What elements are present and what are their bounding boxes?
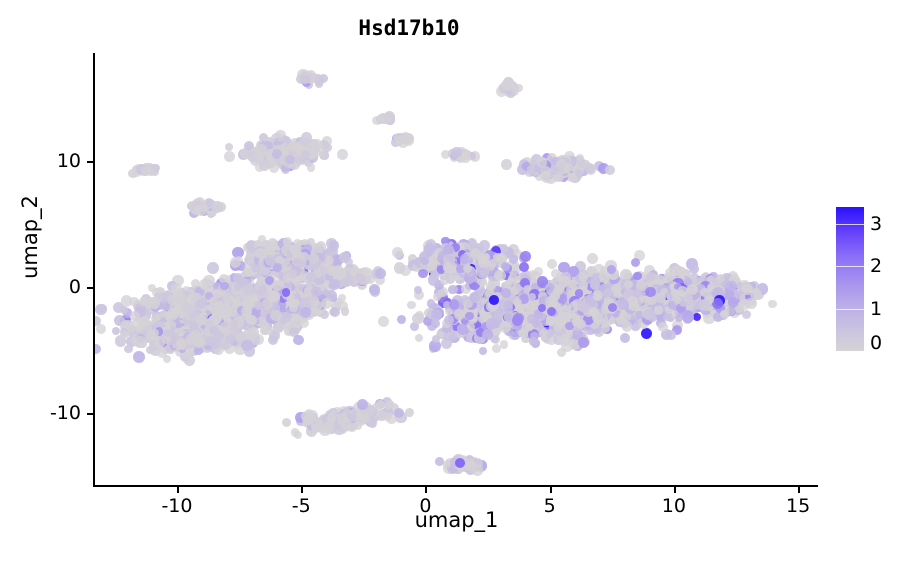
y-axis-label: umap_2 [18, 147, 42, 327]
scatter-point [449, 331, 458, 340]
scatter-point [620, 333, 630, 343]
scatter-point [501, 159, 512, 170]
x-axis-spine [93, 485, 818, 487]
scatter-point [321, 298, 332, 309]
scatter-point [196, 299, 205, 308]
y-tick-label: -10 [9, 402, 81, 424]
colorbar-gradient [836, 207, 864, 351]
scatter-point [566, 286, 574, 294]
scatter-point [431, 309, 443, 321]
scatter-point [230, 257, 241, 268]
x-tick [798, 487, 800, 493]
scatter-point [527, 165, 535, 173]
scatter-point [455, 458, 465, 468]
scatter-point [465, 312, 473, 320]
scatter-point [578, 337, 589, 348]
scatter-point [220, 303, 231, 314]
scatter-point [508, 274, 518, 284]
scatter-point [478, 257, 489, 268]
scatter-point [124, 345, 132, 353]
scatter-point [405, 408, 414, 417]
scatter-point [482, 329, 493, 340]
scatter-point [395, 137, 404, 146]
scatter-point [689, 264, 699, 274]
scatter-point [564, 163, 574, 173]
scatter-point [415, 334, 423, 342]
scatter-point [699, 299, 711, 311]
scatter-point [720, 310, 729, 319]
scatter-point [494, 270, 505, 281]
scatter-point [478, 315, 486, 323]
scatter-point [185, 304, 194, 313]
scatter-point [464, 458, 475, 469]
umap-feature-plot-figure: Hsd17b10 -10-5051015100-10 umap_1 umap_2… [0, 0, 911, 562]
scatter-point [682, 311, 694, 323]
scatter-point [593, 293, 601, 301]
scatter-point [288, 269, 297, 278]
scatter-point [501, 81, 509, 89]
scatter-point [519, 262, 529, 272]
scatter-point [337, 149, 348, 160]
scatter-point-layer [95, 53, 818, 485]
colorbar-tick-label: 2 [870, 257, 882, 276]
scatter-point [394, 262, 406, 274]
scatter-point [418, 269, 428, 279]
scatter-point [599, 271, 610, 282]
scatter-point [112, 327, 120, 335]
scatter-point [726, 281, 737, 292]
scatter-point [334, 269, 345, 280]
scatter-point [443, 262, 453, 272]
scatter-point [641, 328, 652, 339]
x-tick [301, 487, 303, 493]
scatter-point [470, 293, 480, 303]
scatter-point [553, 322, 563, 332]
scatter-point [540, 166, 551, 177]
scatter-point [265, 246, 275, 256]
scatter-point [728, 297, 739, 308]
y-tick [87, 287, 93, 289]
scatter-point [130, 311, 140, 321]
scatter-point [308, 253, 319, 264]
scatter-point [520, 251, 530, 261]
scatter-point [265, 255, 276, 266]
scatter-point [499, 321, 511, 333]
x-tick [550, 487, 552, 493]
scatter-point [319, 74, 328, 83]
scatter-point [578, 159, 586, 167]
scatter-point [382, 412, 392, 422]
scatter-point [633, 289, 642, 298]
scatter-point [618, 299, 629, 310]
scatter-point [273, 322, 284, 333]
scatter-point [741, 284, 752, 295]
scatter-point [560, 305, 571, 316]
scatter-point [376, 400, 384, 408]
scatter-point [665, 268, 675, 278]
scatter-point [397, 315, 406, 324]
scatter-point [407, 301, 415, 309]
scatter-point [489, 295, 499, 305]
scatter-point [654, 305, 663, 314]
scatter-point [443, 244, 454, 255]
scatter-point [329, 279, 340, 290]
scatter-point [255, 248, 266, 259]
scatter-point [307, 163, 315, 171]
scatter-point [355, 273, 365, 283]
colorbar-tick-label: 1 [870, 300, 882, 319]
scatter-point [225, 143, 233, 151]
scatter-point [323, 143, 332, 152]
scatter-point [282, 418, 292, 428]
scatter-point [207, 262, 219, 274]
scatter-point [220, 282, 228, 290]
scatter-point [330, 307, 340, 317]
x-tick [177, 487, 179, 493]
x-tick [425, 487, 427, 493]
scatter-point [589, 307, 599, 317]
scatter-point [300, 307, 311, 318]
page-title: Hsd17b10 [0, 16, 818, 40]
scatter-point [95, 344, 101, 354]
scatter-point [768, 300, 777, 309]
scatter-point [500, 340, 508, 348]
scatter-point [141, 166, 151, 176]
scatter-point [457, 324, 468, 335]
scatter-point [693, 313, 701, 321]
scatter-point [579, 273, 588, 282]
scatter-point [299, 318, 309, 328]
scatter-point [209, 326, 218, 335]
scatter-point [303, 414, 314, 425]
scatter-point [139, 297, 147, 305]
scatter-point [293, 335, 303, 345]
scatter-point [493, 310, 503, 320]
scatter-point [631, 258, 640, 267]
scatter-point [134, 336, 145, 347]
scatter-point [310, 141, 318, 149]
scatter-point [435, 457, 444, 466]
scatter-point [605, 165, 616, 176]
colorbar-tick [836, 266, 864, 267]
scatter-point [656, 295, 664, 303]
scatter-point [745, 298, 757, 310]
scatter-point [268, 335, 278, 345]
scatter-point [310, 300, 322, 312]
colorbar: 3210 [836, 207, 911, 352]
plot-axes: -10-5051015100-10 [95, 53, 818, 485]
scatter-point [318, 424, 327, 433]
scatter-point [633, 272, 641, 280]
scatter-point [366, 275, 375, 284]
y-tick [87, 413, 93, 415]
scatter-point [513, 313, 523, 323]
scatter-point [412, 313, 424, 325]
scatter-point [341, 307, 350, 316]
scatter-point [501, 288, 511, 298]
scatter-point [299, 252, 309, 262]
scatter-point [361, 413, 370, 422]
colorbar-tick [836, 309, 864, 310]
scatter-point [295, 143, 304, 152]
scatter-point [149, 297, 160, 308]
scatter-point [428, 256, 438, 266]
scatter-point [668, 301, 676, 309]
scatter-point [479, 347, 487, 355]
scatter-point [133, 351, 145, 363]
scatter-point [327, 414, 336, 423]
colorbar-tick-label: 3 [870, 215, 882, 234]
scatter-point [529, 337, 537, 345]
x-tick [674, 487, 676, 493]
colorbar-tick-label: 0 [870, 334, 882, 353]
scatter-point [378, 316, 389, 327]
scatter-point [282, 288, 290, 296]
scatter-point [501, 262, 510, 271]
scatter-point [339, 252, 350, 263]
scatter-point [273, 263, 282, 272]
scatter-point [557, 348, 566, 357]
scatter-point [646, 272, 655, 281]
scatter-point [241, 340, 252, 351]
scatter-point [211, 201, 223, 213]
scatter-point [270, 310, 281, 321]
scatter-point [300, 75, 309, 84]
scatter-point [311, 286, 321, 296]
scatter-point [627, 296, 638, 307]
scatter-point [460, 254, 470, 264]
scatter-point [716, 274, 725, 283]
scatter-point [294, 431, 303, 440]
scatter-point [454, 309, 465, 320]
scatter-point [237, 277, 247, 287]
scatter-point [515, 84, 523, 92]
scatter-point [369, 284, 380, 295]
scatter-point [337, 414, 347, 424]
scatter-point [224, 151, 235, 162]
scatter-point [643, 309, 654, 320]
scatter-point [587, 253, 598, 264]
x-axis-label: umap_1 [95, 508, 818, 532]
scatter-point [558, 276, 570, 288]
scatter-point [259, 160, 270, 171]
scatter-point [386, 400, 394, 408]
scatter-point [575, 169, 583, 177]
colorbar-tick [836, 224, 864, 225]
scatter-point [291, 299, 300, 308]
scatter-point [504, 300, 513, 309]
scatter-point [559, 334, 571, 346]
y-tick [87, 161, 93, 163]
scatter-point [547, 259, 557, 269]
scatter-point [178, 294, 186, 302]
